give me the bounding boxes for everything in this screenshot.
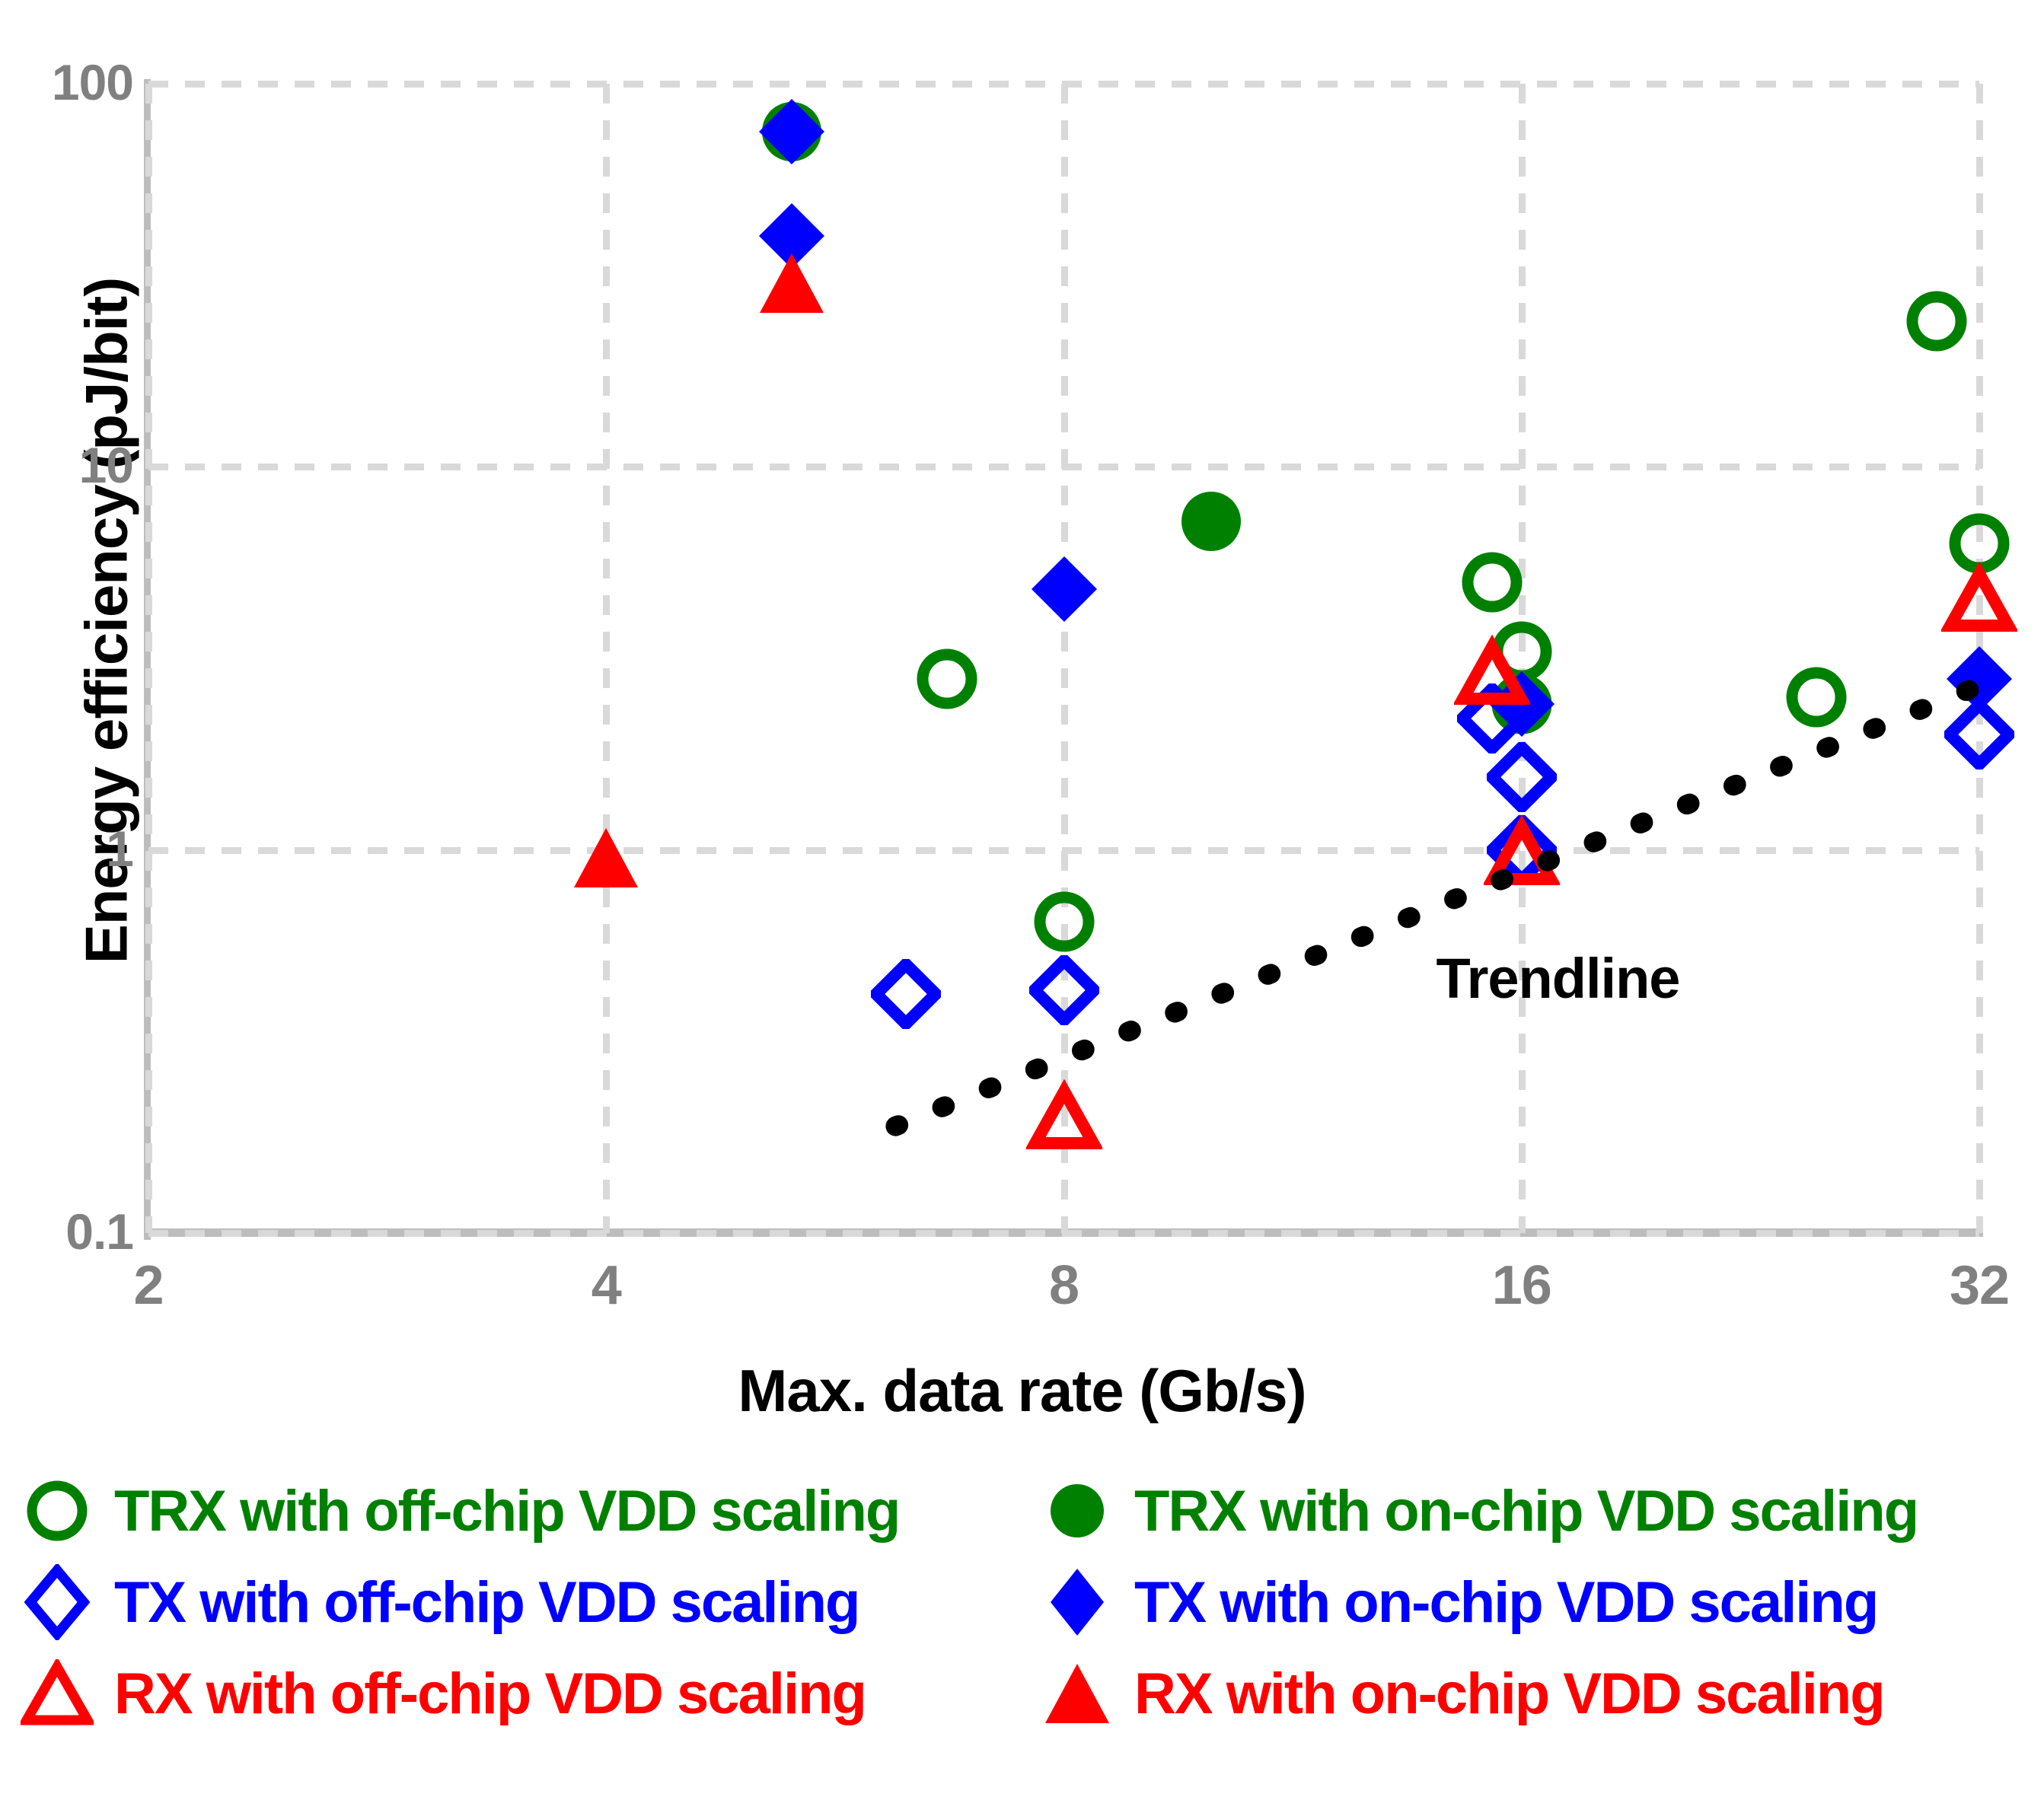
y-tick-label: 100 [0, 53, 133, 111]
legend-item-rx-offchip[interactable]: RX with off-chip VDD scaling [0, 1659, 1020, 1728]
y-tick-label: 0.1 [0, 1203, 133, 1260]
x-tick-label: 4 [507, 1254, 705, 1317]
x-tick-label: 16 [1423, 1254, 1621, 1317]
legend-label: RX with on-chip VDD scaling [1134, 1661, 1884, 1727]
circle-filled-icon [1020, 1477, 1134, 1545]
legend-label: RX with off-chip VDD scaling [114, 1661, 866, 1727]
legend-row: TX with off-chip VDD scaling TX with on-… [0, 1556, 2044, 1648]
chart-figure: Energy efficiency (pJ/bit) Max. data rat… [0, 0, 2044, 1797]
circle-open-icon [0, 1477, 114, 1545]
trendline [148, 84, 1979, 1233]
legend-item-trx-onchip[interactable]: TRX with on-chip VDD scaling [1020, 1477, 2040, 1545]
x-tick-label: 2 [49, 1254, 247, 1317]
triangle-open-icon [0, 1659, 114, 1728]
legend-label: TX with on-chip VDD scaling [1134, 1569, 1877, 1636]
triangle-filled-icon [1020, 1659, 1134, 1728]
trendline-label: Trendline [1436, 946, 1679, 1011]
legend-label: TRX with on-chip VDD scaling [1134, 1478, 1918, 1544]
legend-row: RX with off-chip VDD scaling RX with on-… [0, 1648, 2044, 1739]
diamond-filled-icon [1020, 1564, 1134, 1640]
y-tick-label: 10 [0, 436, 133, 494]
y-tick-label: 1 [0, 820, 133, 878]
plot-area [148, 84, 1979, 1233]
legend-label: TRX with off-chip VDD scaling [114, 1478, 899, 1544]
legend-item-tx-onchip[interactable]: TX with on-chip VDD scaling [1020, 1564, 2040, 1640]
x-axis-title: Max. data rate (Gb/s) [0, 1356, 2044, 1426]
legend-item-tx-offchip[interactable]: TX with off-chip VDD scaling [0, 1564, 1020, 1640]
legend-item-rx-onchip[interactable]: RX with on-chip VDD scaling [1020, 1659, 2040, 1728]
legend: TRX with off-chip VDD scaling TRX with o… [0, 1465, 2044, 1739]
y-axis-title: Energy efficiency (pJ/bit) [72, 88, 142, 1154]
legend-label: TX with off-chip VDD scaling [114, 1569, 859, 1636]
legend-row: TRX with off-chip VDD scaling TRX with o… [0, 1465, 2044, 1556]
diamond-open-icon [0, 1564, 114, 1640]
legend-item-trx-offchip[interactable]: TRX with off-chip VDD scaling [0, 1477, 1020, 1545]
x-tick-label: 32 [1880, 1254, 2044, 1317]
x-tick-label: 8 [965, 1254, 1163, 1317]
